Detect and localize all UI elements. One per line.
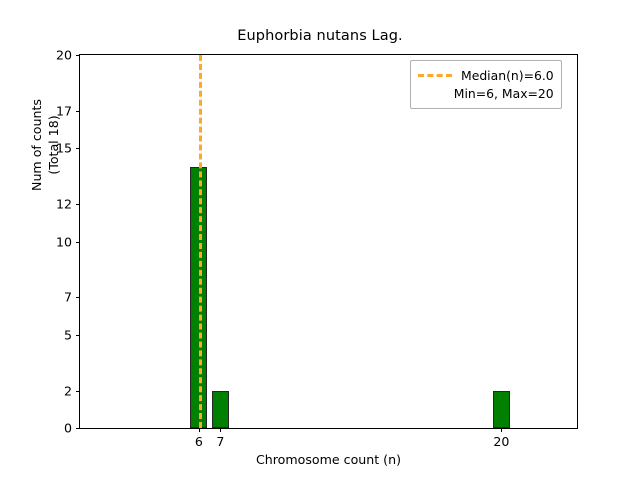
legend-label-median: Median(n)=6.0 [461,68,554,83]
legend-item-median: Median(n)=6.0 [418,66,554,84]
y-tick-label-5: 5 [64,327,72,342]
median-line [199,55,202,428]
x-tick-6 [199,428,200,432]
y-tick-label-2: 2 [64,383,72,398]
y-tick-0 [76,428,80,429]
chart-title: Euphorbia nutans Lag. [0,28,640,44]
y-axis-label: Num of counts (Total 18) [28,0,62,335]
legend: Median(n)=6.0 Min=6, Max=20 [410,60,562,109]
legend-label-minmax: Min=6, Max=20 [454,86,554,101]
y-tick-label-0: 0 [64,421,72,436]
x-tick-label-7: 7 [216,434,224,449]
x-tick-label-20: 20 [493,434,509,449]
x-tick-20 [501,428,502,432]
dashed-line-icon [418,74,452,77]
x-tick-7 [220,428,221,432]
median-layer [80,55,577,428]
plot-area: 0 2 5 7 10 12 15 17 20 6 7 20 [79,54,578,429]
chart-figure: Euphorbia nutans Lag. 0 2 5 7 10 12 15 1… [0,0,640,480]
x-axis-label: Chromosome count (n) [79,452,578,467]
legend-item-minmax: Min=6, Max=20 [418,84,554,102]
y-axis-label-line2: (Total 18) [45,0,62,335]
x-tick-label-6: 6 [195,434,203,449]
y-axis-label-line1: Num of counts [28,0,45,335]
y-tick-label-7: 7 [64,290,72,305]
